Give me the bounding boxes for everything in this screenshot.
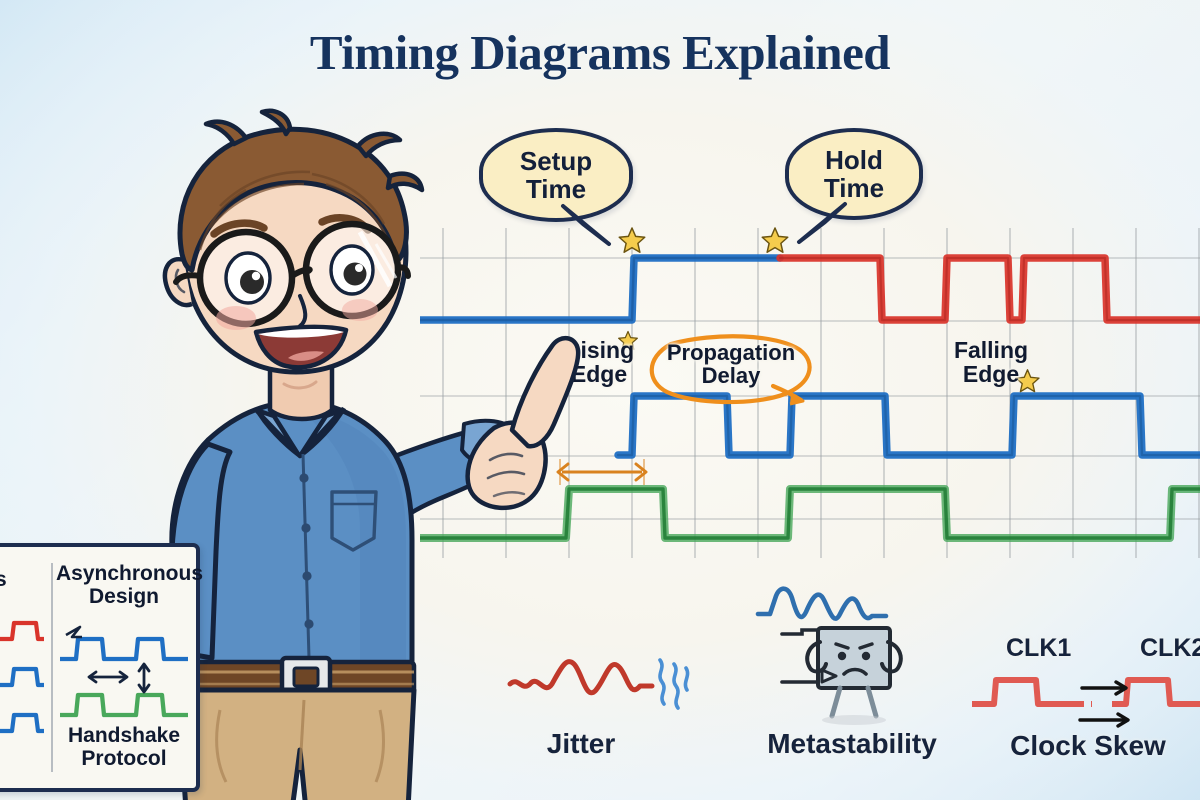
label-propagation-delay: Propagation Delay [655, 341, 807, 387]
speech-bubble-hold-time[interactable]: Hold Time [785, 128, 923, 220]
speech-bubble-hold-time-text: Hold Time [824, 146, 884, 202]
cheek-left [216, 306, 256, 330]
clock-skew-icon [972, 662, 1200, 732]
waveform-trace-top-red [780, 258, 1200, 320]
pants [178, 690, 414, 800]
caption-clock-skew: Clock Skew [978, 730, 1198, 762]
label-falling-edge: Falling Edge [948, 338, 1034, 386]
illustration-canvas: Timing Diagrams Explained [0, 0, 1200, 800]
legend-box[interactable]: ous Asynchronous Design [0, 543, 200, 792]
speech-bubble-setup-tail [557, 202, 617, 250]
waveform-trace-top-red-shade [780, 258, 1200, 320]
legend-right-traces [58, 625, 190, 721]
star-icon-hold [760, 226, 790, 256]
jitter-icon [510, 640, 690, 720]
legend-divider [51, 563, 53, 772]
label-clk1: CLK1 [1006, 634, 1071, 663]
caption-metastability: Metastability [742, 728, 962, 760]
legend-left-traces [0, 619, 44, 749]
speech-bubble-hold-tail [791, 200, 851, 248]
measure-arrow-propagation [556, 459, 648, 485]
legend-right-title: Asynchronous Design [56, 563, 192, 608]
page-title: Timing Diagrams Explained [0, 24, 1200, 81]
legend-right-footer: Handshake Protocol [56, 725, 192, 770]
star-icon-setup [617, 226, 647, 256]
metastability-icon [752, 586, 952, 726]
cheek-right [342, 299, 378, 321]
caption-jitter: Jitter [516, 728, 646, 760]
legend-left-title: ous [0, 569, 44, 592]
label-clk2: CLK2 [1140, 634, 1200, 663]
